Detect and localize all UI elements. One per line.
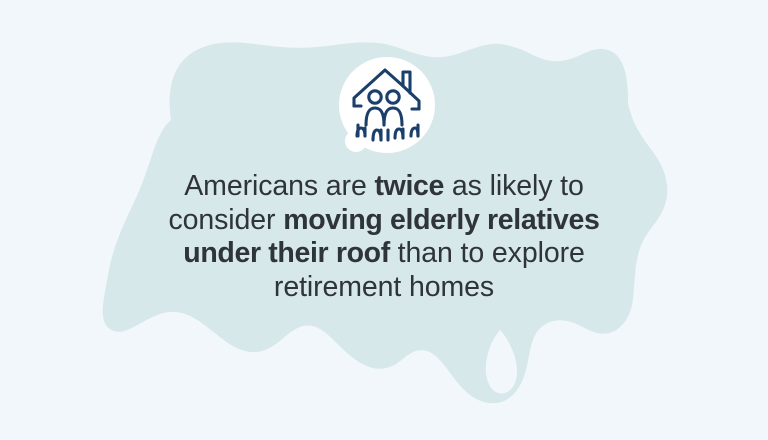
line-3-segment-1: under their roof xyxy=(183,237,390,269)
statement-line-3: under their roof than to explore xyxy=(84,237,684,271)
line-2-segment-2: moving elderly relatives xyxy=(283,204,599,236)
infographic-canvas: Americans are twice as likely to conside… xyxy=(0,0,768,440)
us-map-pacific-northwest-inlet xyxy=(155,44,173,86)
line-1-segment-3: as likely to xyxy=(444,170,584,202)
line-2-segment-1: consider xyxy=(168,204,283,236)
statement-text: Americans are twice as likely to conside… xyxy=(84,170,684,304)
line-1-segment-2: twice xyxy=(375,170,445,202)
icon-speech-bubble xyxy=(330,50,446,166)
us-map-northeast-notch xyxy=(628,78,648,117)
statement-line-1: Americans are twice as likely to xyxy=(84,170,684,204)
line-3-segment-2: than to explore xyxy=(390,237,585,269)
line-1-segment-1: Americans are xyxy=(184,170,374,202)
line-4-segment-1: retirement homes xyxy=(274,271,494,303)
statement-line-2: consider moving elderly relatives xyxy=(84,204,684,238)
statement-line-4: retirement homes xyxy=(84,271,684,305)
us-map-gulf-notch xyxy=(382,368,412,414)
